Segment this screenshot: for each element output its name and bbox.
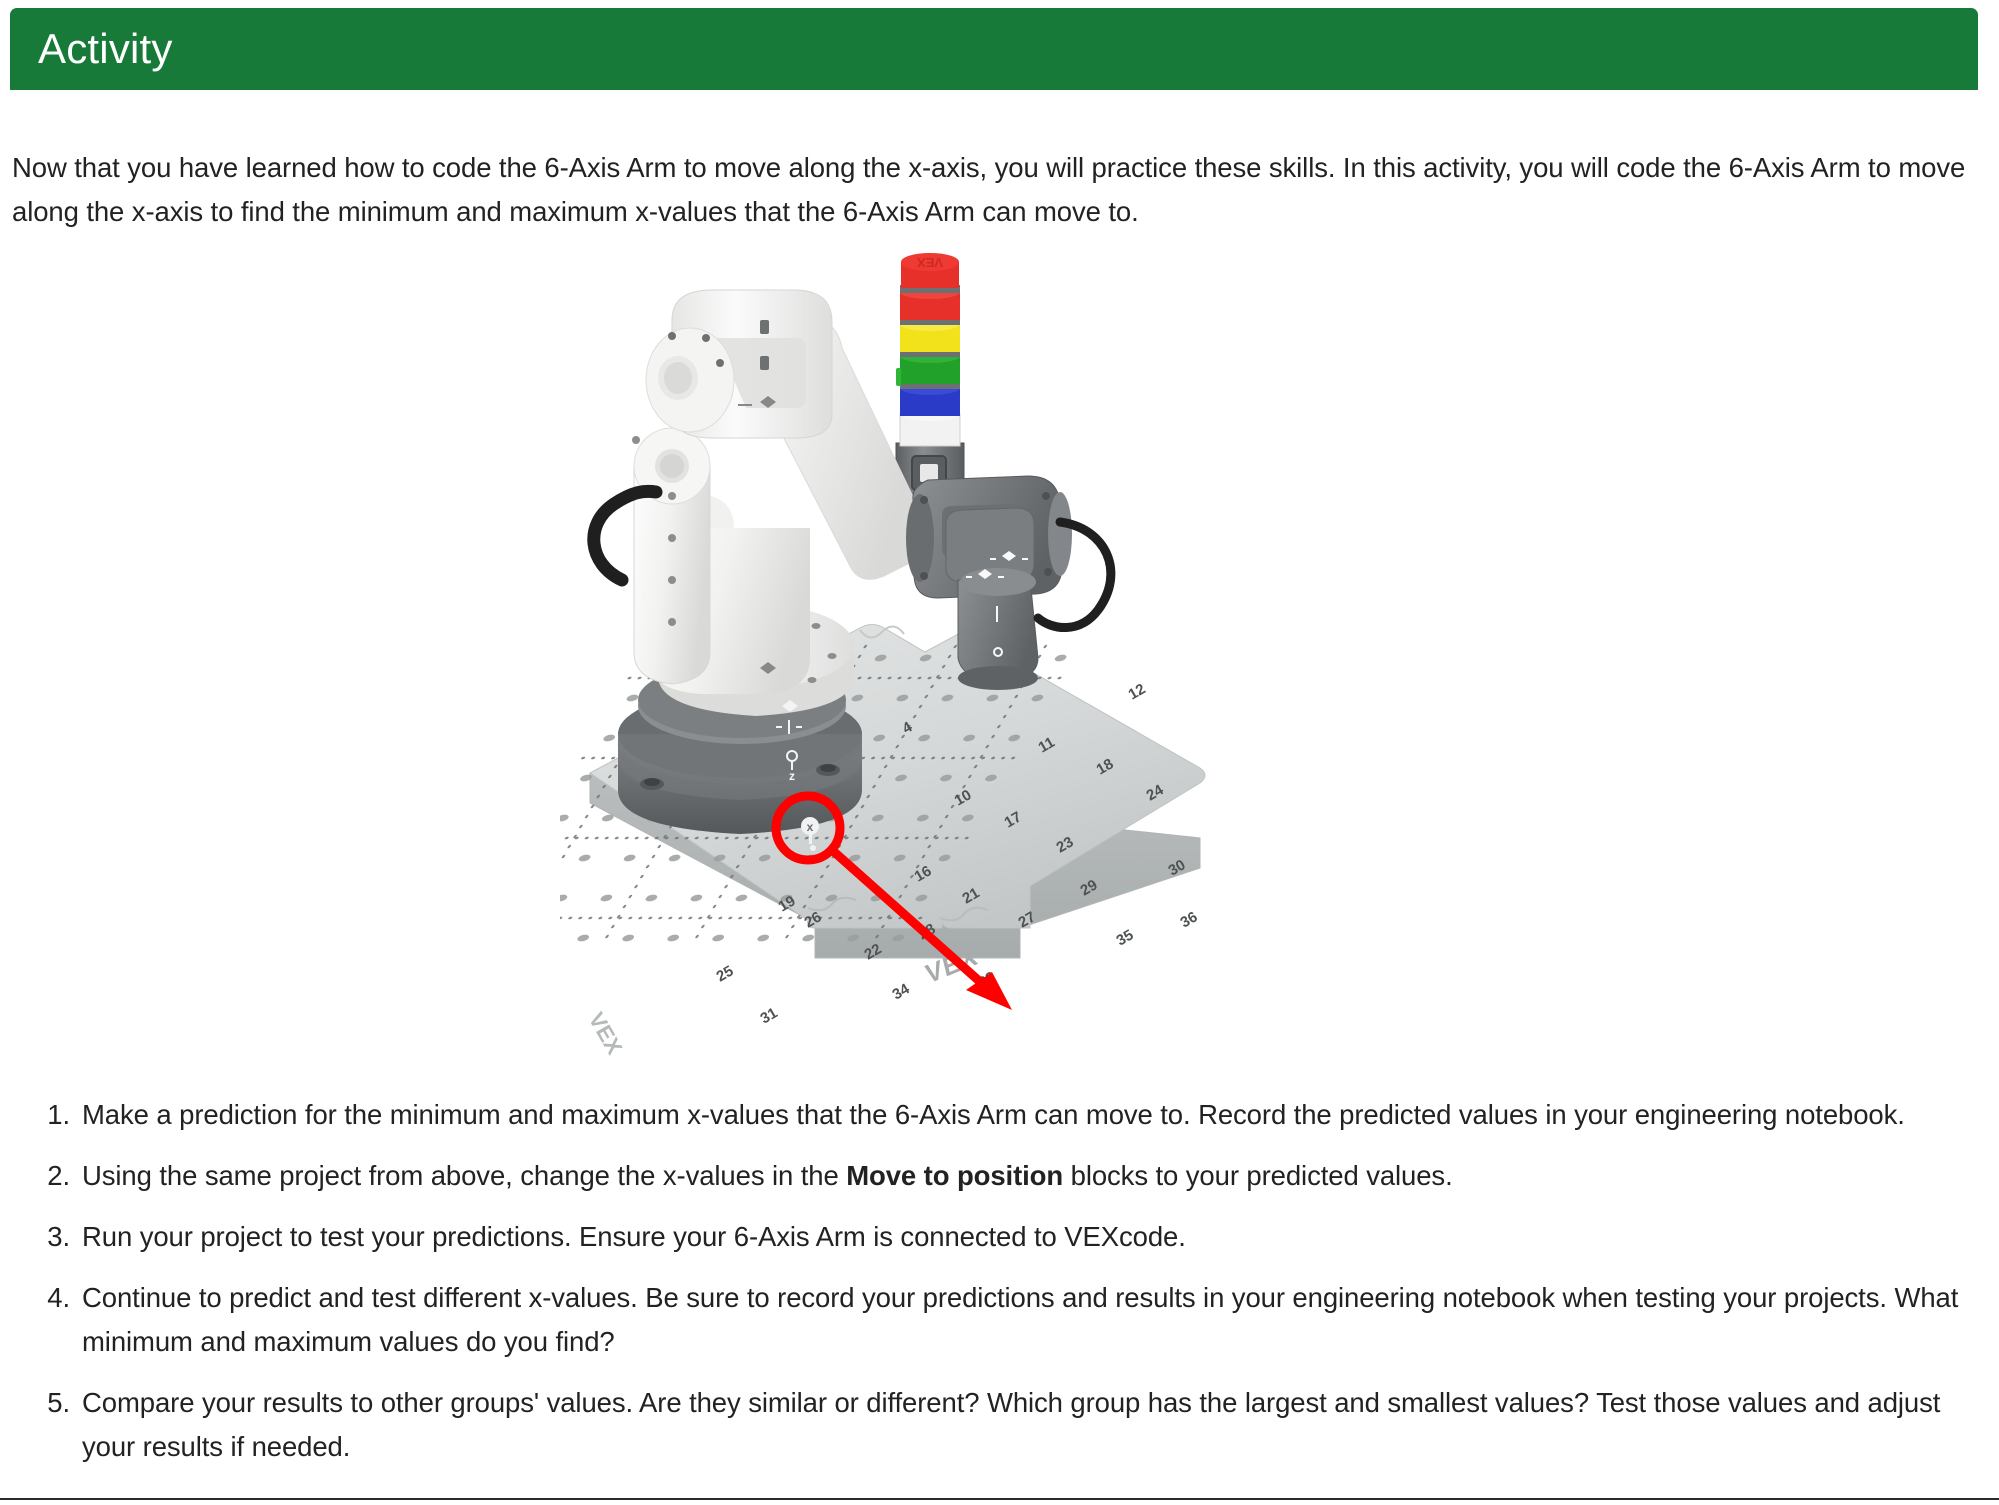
svg-text:35: 35 [1114, 926, 1137, 949]
step-number: 4. [30, 1276, 70, 1320]
activity-step-1: 1.Make a prediction for the minimum and … [22, 1093, 1982, 1137]
activity-step-4: 4.Continue to predict and test different… [22, 1276, 1982, 1364]
activity-step-2: 2.Using the same project from above, cha… [22, 1154, 1982, 1198]
block-name-emphasis: Move to position [846, 1160, 1063, 1191]
step-text: Compare your results to other groups' va… [82, 1387, 1940, 1462]
bottom-divider [0, 1498, 1999, 1500]
activity-banner: Activity [10, 8, 1978, 90]
activity-step-3: 3.Run your project to test your predicti… [22, 1215, 1982, 1259]
intro-paragraph: Now that you have learned how to code th… [12, 146, 1977, 234]
svg-text:x: x [807, 820, 814, 834]
step-number: 1. [30, 1093, 70, 1137]
step-text: Continue to predict and test different x… [82, 1282, 1958, 1357]
step-number: 3. [30, 1215, 70, 1259]
six-axis-arm-figure: 4 5 10 11 12 16 17 18 19 21 22 23 24 25 … [560, 228, 1440, 1078]
svg-text:12: 12 [1126, 680, 1149, 703]
step-text: Make a prediction for the minimum and ma… [82, 1099, 1905, 1130]
activity-step-5: 5.Compare your results to other groups' … [22, 1381, 1982, 1469]
svg-text:31: 31 [758, 1004, 781, 1027]
step-number: 5. [30, 1381, 70, 1425]
svg-text:z: z [789, 769, 795, 783]
status-led [896, 368, 901, 386]
activity-steps-list: 1.Make a prediction for the minimum and … [22, 1093, 1982, 1486]
arm-illustration: 4 5 10 11 12 16 17 18 19 21 22 23 24 25 … [560, 228, 1440, 1078]
step-text: Run your project to test your prediction… [82, 1221, 1186, 1252]
step-text: Using the same project from above, chang… [82, 1160, 1453, 1191]
vex-logo-side: VEX [584, 1008, 628, 1059]
svg-text:25: 25 [714, 962, 737, 985]
svg-text:34: 34 [890, 980, 914, 1003]
step-number: 2. [30, 1154, 70, 1198]
svg-text:36: 36 [1178, 908, 1201, 931]
page-title: Activity [10, 28, 173, 70]
svg-text:VEX: VEX [917, 255, 943, 270]
